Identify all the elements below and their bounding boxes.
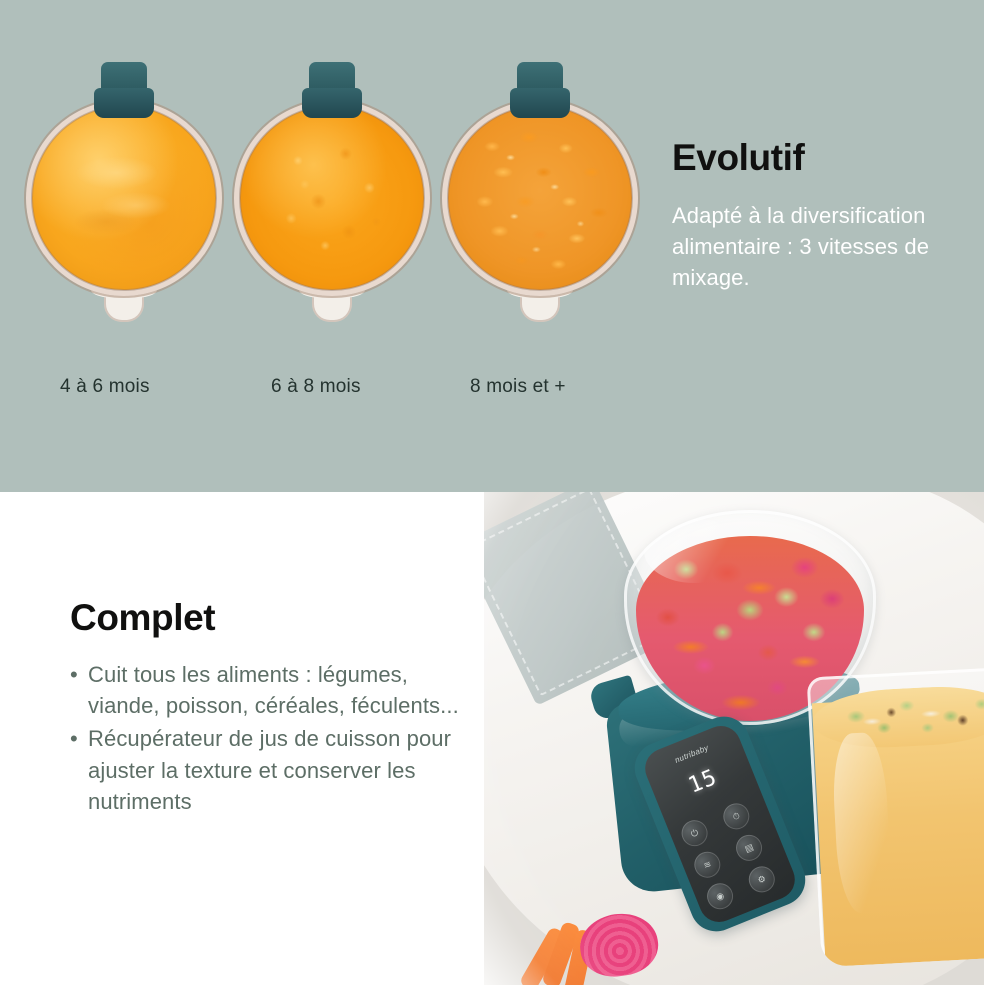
list-item: • Récupérateur de jus de cuisson pour aj… — [70, 723, 470, 817]
food-smooth-puree — [32, 106, 216, 290]
menu-button[interactable]: ▤ — [732, 831, 766, 865]
food-textured-puree — [240, 106, 424, 290]
age-labels: 4 à 6 mois 6 à 8 mois 8 mois et + — [0, 376, 660, 416]
bowl-jar — [442, 100, 638, 296]
evolutif-heading: Evolutif — [672, 139, 972, 178]
product-feature-page: 4 à 6 mois 6 à 8 mois 8 mois et + Evolut… — [0, 0, 984, 985]
bowl-lid-icon — [309, 62, 355, 108]
complet-section: Complet • Cuit tous les aliments : légum… — [0, 492, 984, 985]
bowls-row: 4 à 6 mois 6 à 8 mois 8 mois et + — [0, 0, 660, 420]
list-item-label: Cuit tous les aliments : légumes, viande… — [88, 662, 459, 718]
bowl-stage-2 — [234, 62, 430, 352]
glass-highlight — [644, 519, 745, 584]
evolutif-section: 4 à 6 mois 6 à 8 mois 8 mois et + Evolut… — [0, 0, 984, 492]
control-button-grid[interactable]: ⏻ ⏱ ≋ ▤ ◉ ⚙ — [678, 796, 787, 913]
blend-button[interactable]: ◉ — [703, 879, 737, 913]
bullet-dot-icon: • — [70, 659, 78, 690]
steam-button[interactable]: ≋ — [690, 848, 724, 882]
list-item-label: Récupérateur de jus de cuisson pour ajus… — [88, 726, 451, 813]
age-label-stage-3: 8 mois et + — [470, 376, 566, 398]
age-label-stage-1: 4 à 6 mois — [60, 376, 150, 398]
age-label-stage-2: 6 à 8 mois — [271, 376, 361, 398]
product-photo: nutribaby 15 ⏻ ⏱ ≋ ▤ ◉ ⚙ — [484, 492, 984, 985]
complet-bullet-list: • Cuit tous les aliments : légumes, vian… — [70, 659, 470, 817]
bowl-stage-3 — [442, 62, 638, 352]
beetroot-slice-icon — [576, 909, 662, 981]
bowl-lid-icon — [517, 62, 563, 108]
bowl-jar — [26, 100, 222, 296]
complet-text-block: Complet • Cuit tous les aliments : légum… — [70, 597, 470, 819]
settings-button[interactable]: ⚙ — [745, 862, 779, 896]
foreground-vegetables — [522, 912, 702, 985]
bowl-lid-icon — [101, 62, 147, 108]
jug-surface-toppings — [811, 683, 984, 751]
list-item: • Cuit tous les aliments : légumes, vian… — [70, 659, 470, 721]
power-button[interactable]: ⏻ — [678, 816, 712, 850]
bowl-stage-1 — [26, 62, 222, 352]
blender-jug — [807, 667, 984, 967]
bowl-jar — [234, 100, 430, 296]
bullet-dot-icon: • — [70, 723, 78, 754]
evolutif-text-block: Evolutif Adapté à la diversification ali… — [672, 139, 972, 294]
timer-button[interactable]: ⏱ — [719, 799, 753, 833]
product-photo-inner: nutribaby 15 ⏻ ⏱ ≋ ▤ ◉ ⚙ — [484, 492, 984, 985]
complet-heading: Complet — [70, 597, 470, 639]
evolutif-body: Adapté à la diversification alimentaire … — [672, 200, 972, 294]
food-chunky-pieces — [448, 106, 632, 290]
